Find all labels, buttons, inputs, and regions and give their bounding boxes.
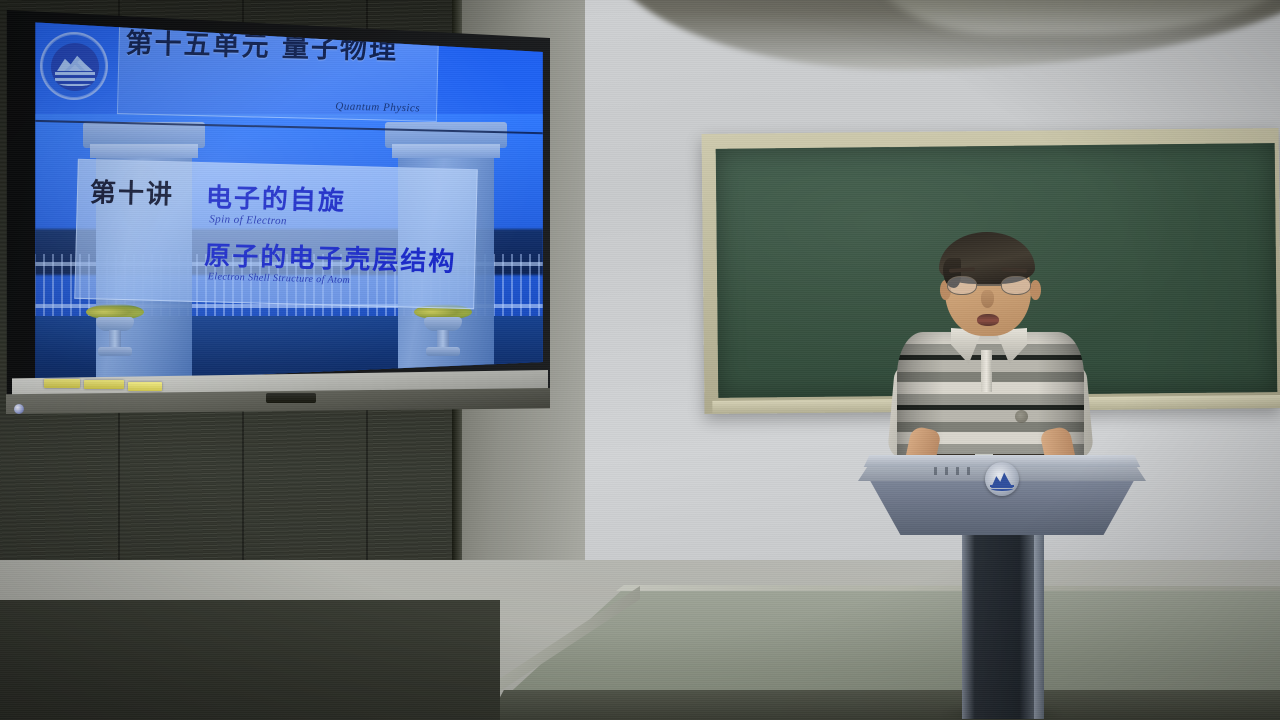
planter-stem — [109, 330, 121, 348]
university-emblem-icon — [40, 32, 108, 100]
emblem-wave — [55, 72, 95, 86]
lectern-vent-slots — [934, 467, 978, 475]
mouth — [977, 314, 999, 326]
shirt-placket — [981, 350, 992, 392]
display-label-sticker — [128, 382, 162, 391]
planter-bowl — [424, 317, 462, 331]
planter-base — [98, 347, 132, 356]
floor-shadow-left — [0, 600, 500, 720]
lectern-column — [962, 533, 1042, 719]
pillar-cap-inner — [90, 144, 198, 158]
slide-topic-1: 电子的自旋 — [205, 177, 346, 218]
ir-sensor-icon — [14, 404, 24, 414]
emblem-disc — [51, 43, 99, 91]
nose — [981, 290, 994, 308]
slide-topic-2-english: Electron Shell Structure of Atom — [208, 271, 351, 286]
glasses-lens-right — [1001, 276, 1031, 295]
planter-stem — [437, 330, 449, 348]
display-brand-plate — [266, 393, 316, 403]
video-frame: 第十五单元 量子物理 Quantum Physics 第十讲 电子的自旋 Spi… — [0, 0, 1280, 720]
shirt-button — [1015, 410, 1028, 423]
lecture-number: 第十讲 — [90, 172, 175, 211]
display-label-sticker — [44, 379, 80, 388]
emblem-wave — [990, 485, 1014, 491]
lectern — [858, 455, 1146, 720]
planter-bowl — [96, 317, 134, 331]
pillar-cap-inner — [392, 144, 500, 158]
emblem-mountain — [57, 54, 93, 71]
display-label-sticker — [84, 380, 124, 389]
slide-topic-1-english: Spin of Electron — [209, 213, 287, 227]
presentation-slide: 第十五单元 量子物理 Quantum Physics 第十讲 电子的自旋 Spi… — [4, 8, 564, 408]
slide-photo-flower-planter-left — [86, 304, 144, 356]
smart-display[interactable]: 第十五单元 量子物理 Quantum Physics 第十讲 电子的自旋 Spi… — [4, 8, 564, 408]
glasses-bridge — [977, 284, 1001, 286]
planter-base — [426, 347, 460, 356]
university-emblem-icon — [985, 462, 1019, 496]
unit-title-english: Quantum Physics — [335, 100, 420, 114]
slide-body-band: 第十讲 电子的自旋 Spin of Electron 原子的电子壳层结构 Ele… — [74, 159, 478, 309]
slide-photo-flower-planter-right — [414, 304, 472, 356]
lecturer — [893, 232, 1088, 472]
display-screen[interactable]: 第十五单元 量子物理 Quantum Physics 第十讲 电子的自旋 Spi… — [4, 8, 564, 408]
lectern-column-highlight — [1034, 533, 1044, 719]
glasses-lens-left — [947, 276, 977, 295]
